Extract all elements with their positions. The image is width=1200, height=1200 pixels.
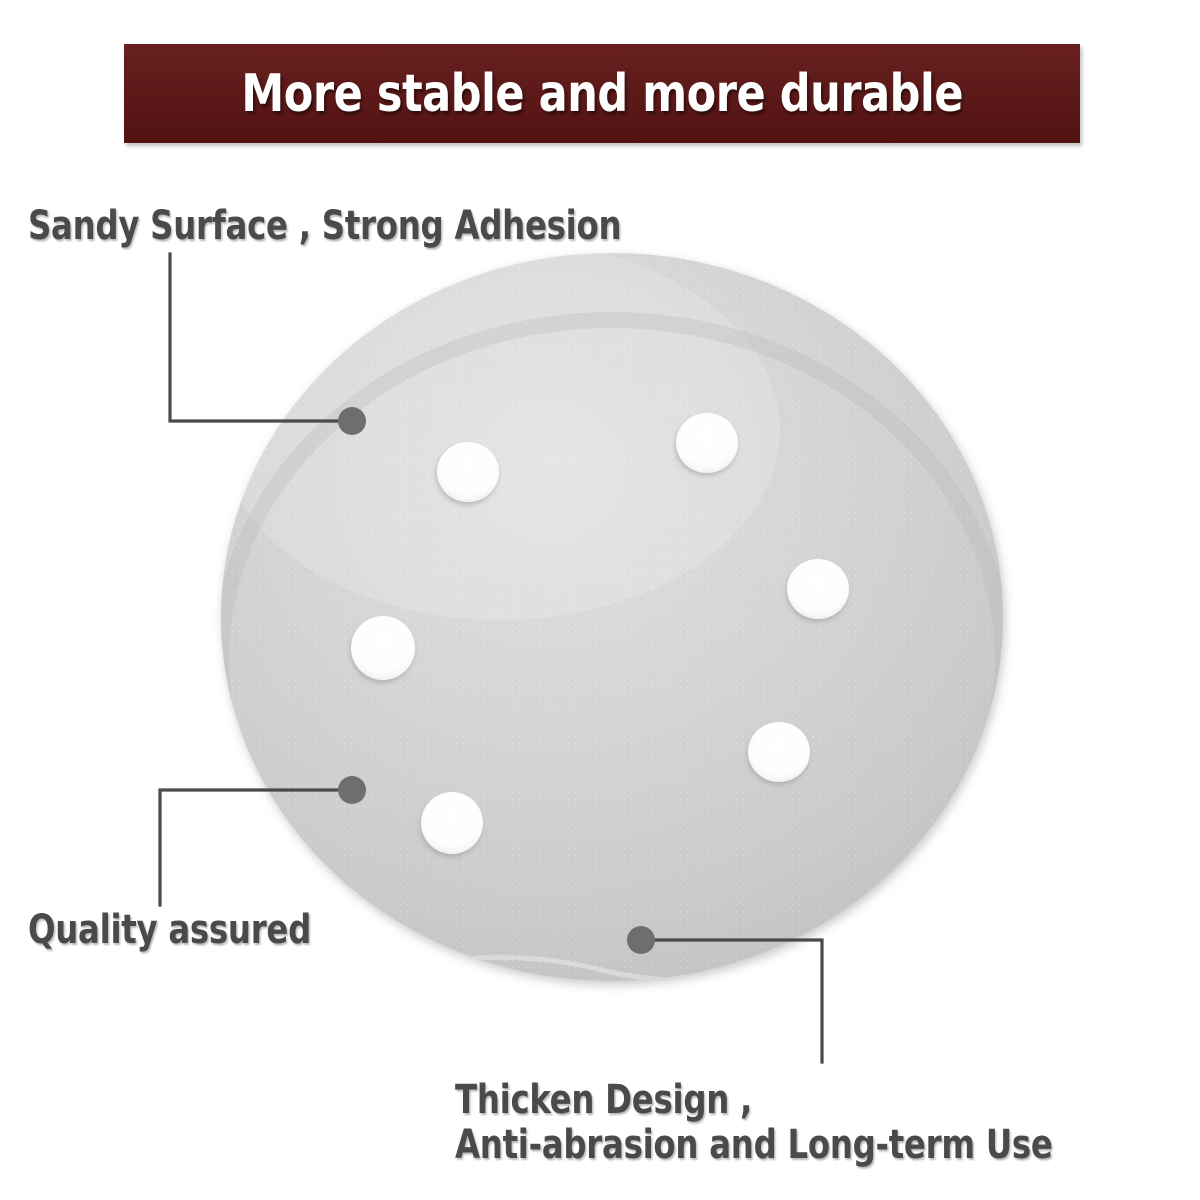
disc-hole-3 bbox=[787, 559, 849, 619]
product-illustration bbox=[0, 0, 1200, 1200]
disc-hole-1 bbox=[437, 442, 499, 502]
callout-marker-sandy-surface bbox=[338, 407, 366, 435]
callout-label-thicken-line1: Thicken Design , bbox=[455, 1077, 752, 1123]
disc-hole-4 bbox=[351, 616, 415, 680]
disc-hole-5 bbox=[748, 722, 810, 782]
header-banner: More stable and more durable bbox=[124, 44, 1080, 143]
callout-label-sandy-surface: Sandy Surface , Strong Adhesion bbox=[28, 204, 621, 249]
infographic-canvas: More stable and more durable Sandy Surfa… bbox=[0, 0, 1200, 1200]
banner-title: More stable and more durable bbox=[241, 64, 963, 124]
callout-label-quality-assured: Quality assured bbox=[28, 908, 311, 953]
callout-marker-thicken-design bbox=[627, 926, 655, 954]
callout-label-thicken-design: Thicken Design ,Anti-abrasion and Long-t… bbox=[455, 1078, 1053, 1168]
disc-hole-2 bbox=[676, 413, 738, 473]
sanding-disc-body bbox=[218, 240, 1008, 1000]
callout-marker-quality-assured bbox=[338, 776, 366, 804]
callout-label-thicken-line2: Anti-abrasion and Long-term Use bbox=[455, 1122, 1053, 1168]
disc-hole-6 bbox=[421, 792, 483, 854]
